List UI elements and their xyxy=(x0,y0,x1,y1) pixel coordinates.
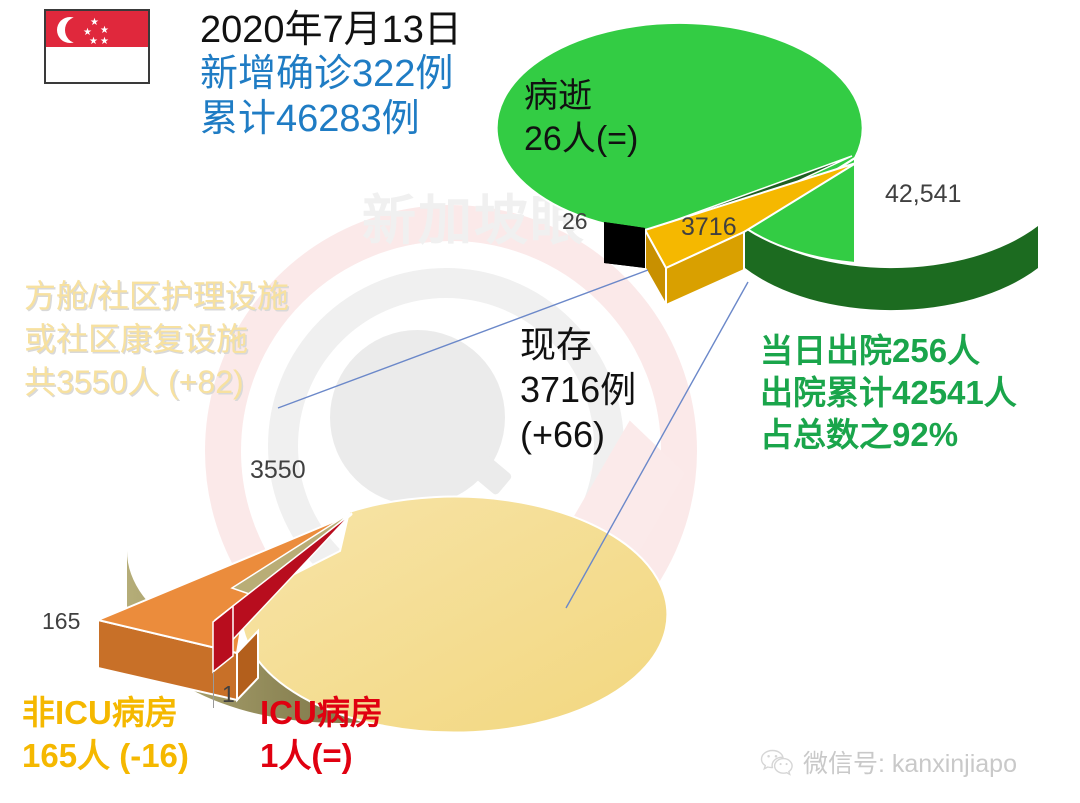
discharged-callout-line3: 占总数之92% xyxy=(760,414,1017,456)
value-active: 3716 xyxy=(681,213,737,242)
infographic-canvas: 新加坡眼 ® ★ ★ ★ ★ ★ 2020年7月13日 新增确诊322例 累计4… xyxy=(0,0,1080,803)
active-callout-line1: 现存 xyxy=(520,322,636,367)
icu-leader-tick xyxy=(213,672,214,708)
value-icu: 1 xyxy=(222,681,235,708)
icu-ward-callout: ICU病房 1人(=) xyxy=(260,692,383,778)
deaths-slice-side xyxy=(604,222,645,268)
icu-callout-line1: ICU病房 xyxy=(260,692,383,735)
nonicu-ward-callout: 非ICU病房 165人 (-16) xyxy=(22,692,189,778)
wechat-attribution: 微信号: kanxinjiapo xyxy=(760,744,1017,780)
community-callout-line3: 共3550人 (+82) xyxy=(24,361,289,404)
community-callout-line2: 或社区康复设施 xyxy=(24,318,289,361)
active-callout-line3: (+66) xyxy=(520,412,636,457)
wechat-handle-text: 微信号: kanxinjiapo xyxy=(803,744,1017,780)
community-facility-callout: 方舱/社区护理设施 或社区康复设施 共3550人 (+82) xyxy=(24,275,289,405)
value-deaths: 26 xyxy=(562,208,588,235)
community-callout-line1: 方舱/社区护理设施 xyxy=(24,275,289,318)
value-community: 3550 xyxy=(250,456,306,485)
deaths-callout: 病逝 26人(=) xyxy=(524,75,638,160)
discharged-callout-line2: 出院累计42541人 xyxy=(760,372,1017,414)
discharged-callout-line1: 当日出院256人 xyxy=(760,330,1017,372)
upper-pie-total-cases xyxy=(497,23,1038,310)
value-nonicu: 165 xyxy=(42,608,80,635)
nonicu-callout-line1: 非ICU病房 xyxy=(22,692,189,735)
icu-callout-line2: 1人(=) xyxy=(260,735,383,778)
active-cases-callout: 现存 3716例 (+66) xyxy=(520,322,636,457)
deaths-callout-line1: 病逝 xyxy=(524,75,638,118)
nonicu-callout-line2: 165人 (-16) xyxy=(22,735,189,778)
deaths-callout-line2: 26人(=) xyxy=(524,118,638,161)
discharged-callout: 当日出院256人 出院累计42541人 占总数之92% xyxy=(760,330,1017,457)
active-callout-line2: 3716例 xyxy=(520,367,636,412)
value-discharged: 42,541 xyxy=(885,180,961,209)
wechat-icon xyxy=(760,749,794,776)
